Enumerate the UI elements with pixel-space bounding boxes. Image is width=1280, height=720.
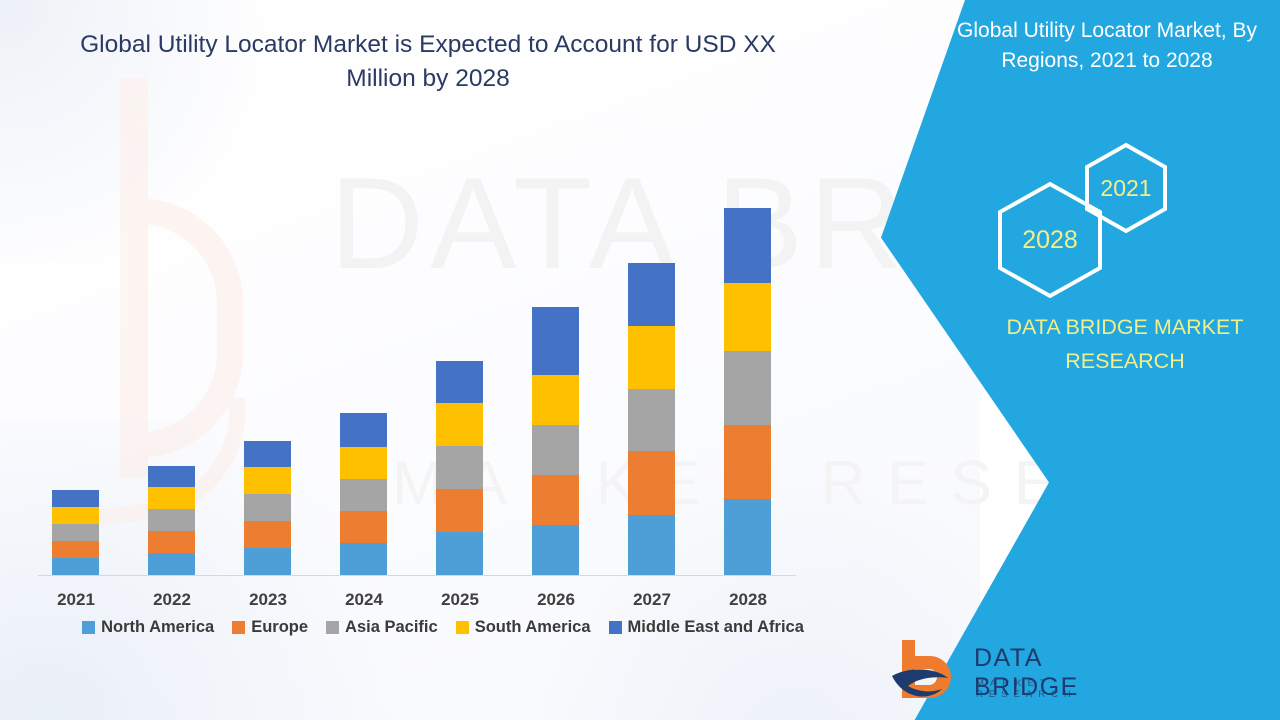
legend-item-middle-east-and-africa[interactable]: Middle East and Africa [609,618,804,637]
bar-segment [436,403,483,446]
x-tick-2021: 2021 [36,590,116,610]
bar-segment [340,479,387,511]
legend-item-asia-pacific[interactable]: Asia Pacific [326,618,438,637]
legend-item-europe[interactable]: Europe [232,618,308,637]
bar-2021[interactable] [52,490,99,575]
bar-segment [628,451,675,515]
bar-segment [532,425,579,475]
bar-segment [148,553,195,575]
bar-segment [724,499,771,575]
bar-segment [148,487,195,509]
brand-name-text: DATA BRIDGE MARKET RESEARCH [960,310,1280,378]
chart-subtitle: Global Utility Locator Market, By Region… [860,16,1280,76]
x-tick-2025: 2025 [420,590,500,610]
bar-segment [532,307,579,375]
bar-segment [52,541,99,558]
bar-2027[interactable] [628,263,675,575]
bar-segment [244,494,291,521]
x-tick-2024: 2024 [324,590,404,610]
bar-segment [244,548,291,575]
bar-2022[interactable] [148,466,195,575]
chart-legend: North AmericaEuropeAsia PacificSouth Ame… [48,618,838,637]
bar-segment [436,361,483,403]
logo-subtitle: MARKET RESEARCH [976,678,1105,700]
bar-segment [436,489,483,532]
bar-segment [244,521,291,548]
legend-label: South America [475,618,591,637]
x-tick-2023: 2023 [228,590,308,610]
stacked-bar-chart: 20212022202320242025202620272028 [0,0,980,720]
infographic-slide: DATA BRIDGE MARKET RESEARCH Global Utili… [0,0,1280,720]
legend-swatch-icon [82,621,95,634]
legend-label: Middle East and Africa [628,618,804,637]
x-axis-line [38,575,796,576]
bar-2023[interactable] [244,441,291,575]
bar-segment [724,208,771,283]
x-tick-2022: 2022 [132,590,212,610]
bar-segment [52,524,99,541]
bar-segment [340,447,387,479]
bar-segment [244,467,291,494]
bar-segment [724,351,771,425]
bar-segment [148,531,195,553]
bar-segment [628,515,675,575]
legend-swatch-icon [456,621,469,634]
bar-segment [52,490,99,507]
legend-swatch-icon [326,621,339,634]
legend-item-south-america[interactable]: South America [456,618,591,637]
bar-segment [724,425,771,499]
hexagon-2021-label: 2021 [1100,175,1151,202]
hexagon-2028-label: 2028 [1022,226,1078,255]
legend-swatch-icon [609,621,622,634]
bar-segment [148,509,195,531]
hexagon-badge-2021: 2021 [1078,140,1174,236]
x-tick-2027: 2027 [612,590,692,610]
legend-label: North America [101,618,214,637]
bar-segment [436,532,483,575]
bar-segment [436,446,483,489]
legend-label: Europe [251,618,308,637]
bar-segment [340,511,387,543]
bar-2026[interactable] [532,307,579,575]
legend-label: Asia Pacific [345,618,438,637]
bar-segment [52,558,99,575]
bar-segment [52,507,99,524]
bar-segment [532,525,579,575]
bar-segment [340,413,387,447]
bar-segment [244,441,291,467]
data-bridge-logo: DATA BRIDGE MARKET RESEARCH [890,636,1105,708]
chart-panel: DATA BRIDGE MARKET RESEARCH Global Utili… [0,0,980,720]
x-tick-2028: 2028 [708,590,788,610]
bar-segment [532,375,579,425]
bar-segment [628,326,675,389]
bar-segment [724,283,771,351]
x-tick-2026: 2026 [516,590,596,610]
bar-2028[interactable] [724,208,771,575]
data-bridge-b-icon [890,636,968,708]
legend-swatch-icon [232,621,245,634]
bar-2024[interactable] [340,413,387,575]
bar-segment [628,263,675,326]
bar-segment [340,543,387,575]
bar-segment [628,389,675,451]
bar-segment [148,466,195,487]
bar-segment [532,475,579,525]
legend-item-north-america[interactable]: North America [82,618,214,637]
bar-2025[interactable] [436,361,483,575]
